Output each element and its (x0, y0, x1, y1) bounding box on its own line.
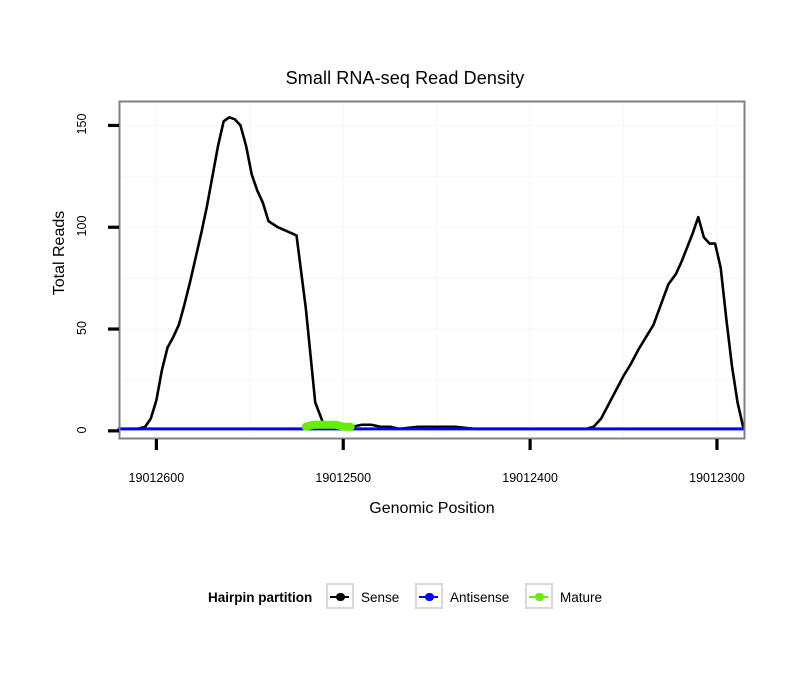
legend-label-antisense: Antisense (450, 590, 509, 605)
legend-key-antisense[interactable] (415, 583, 443, 609)
chart-figure: Small RNA-seq Read Density Total Reads G… (0, 0, 810, 690)
legend-title: Hairpin partition (208, 590, 312, 605)
legend-key-mature[interactable] (525, 583, 553, 609)
legend-key-sense[interactable] (326, 583, 354, 609)
panel-background (119, 101, 745, 439)
legend-point-icon (535, 593, 543, 601)
plot-area (0, 0, 810, 690)
legend-point-icon (336, 593, 344, 601)
legend-point-icon (425, 593, 433, 601)
legend-label-sense: Sense (361, 590, 399, 605)
legend-label-mature: Mature (560, 590, 602, 605)
series-line-mature (306, 425, 351, 427)
